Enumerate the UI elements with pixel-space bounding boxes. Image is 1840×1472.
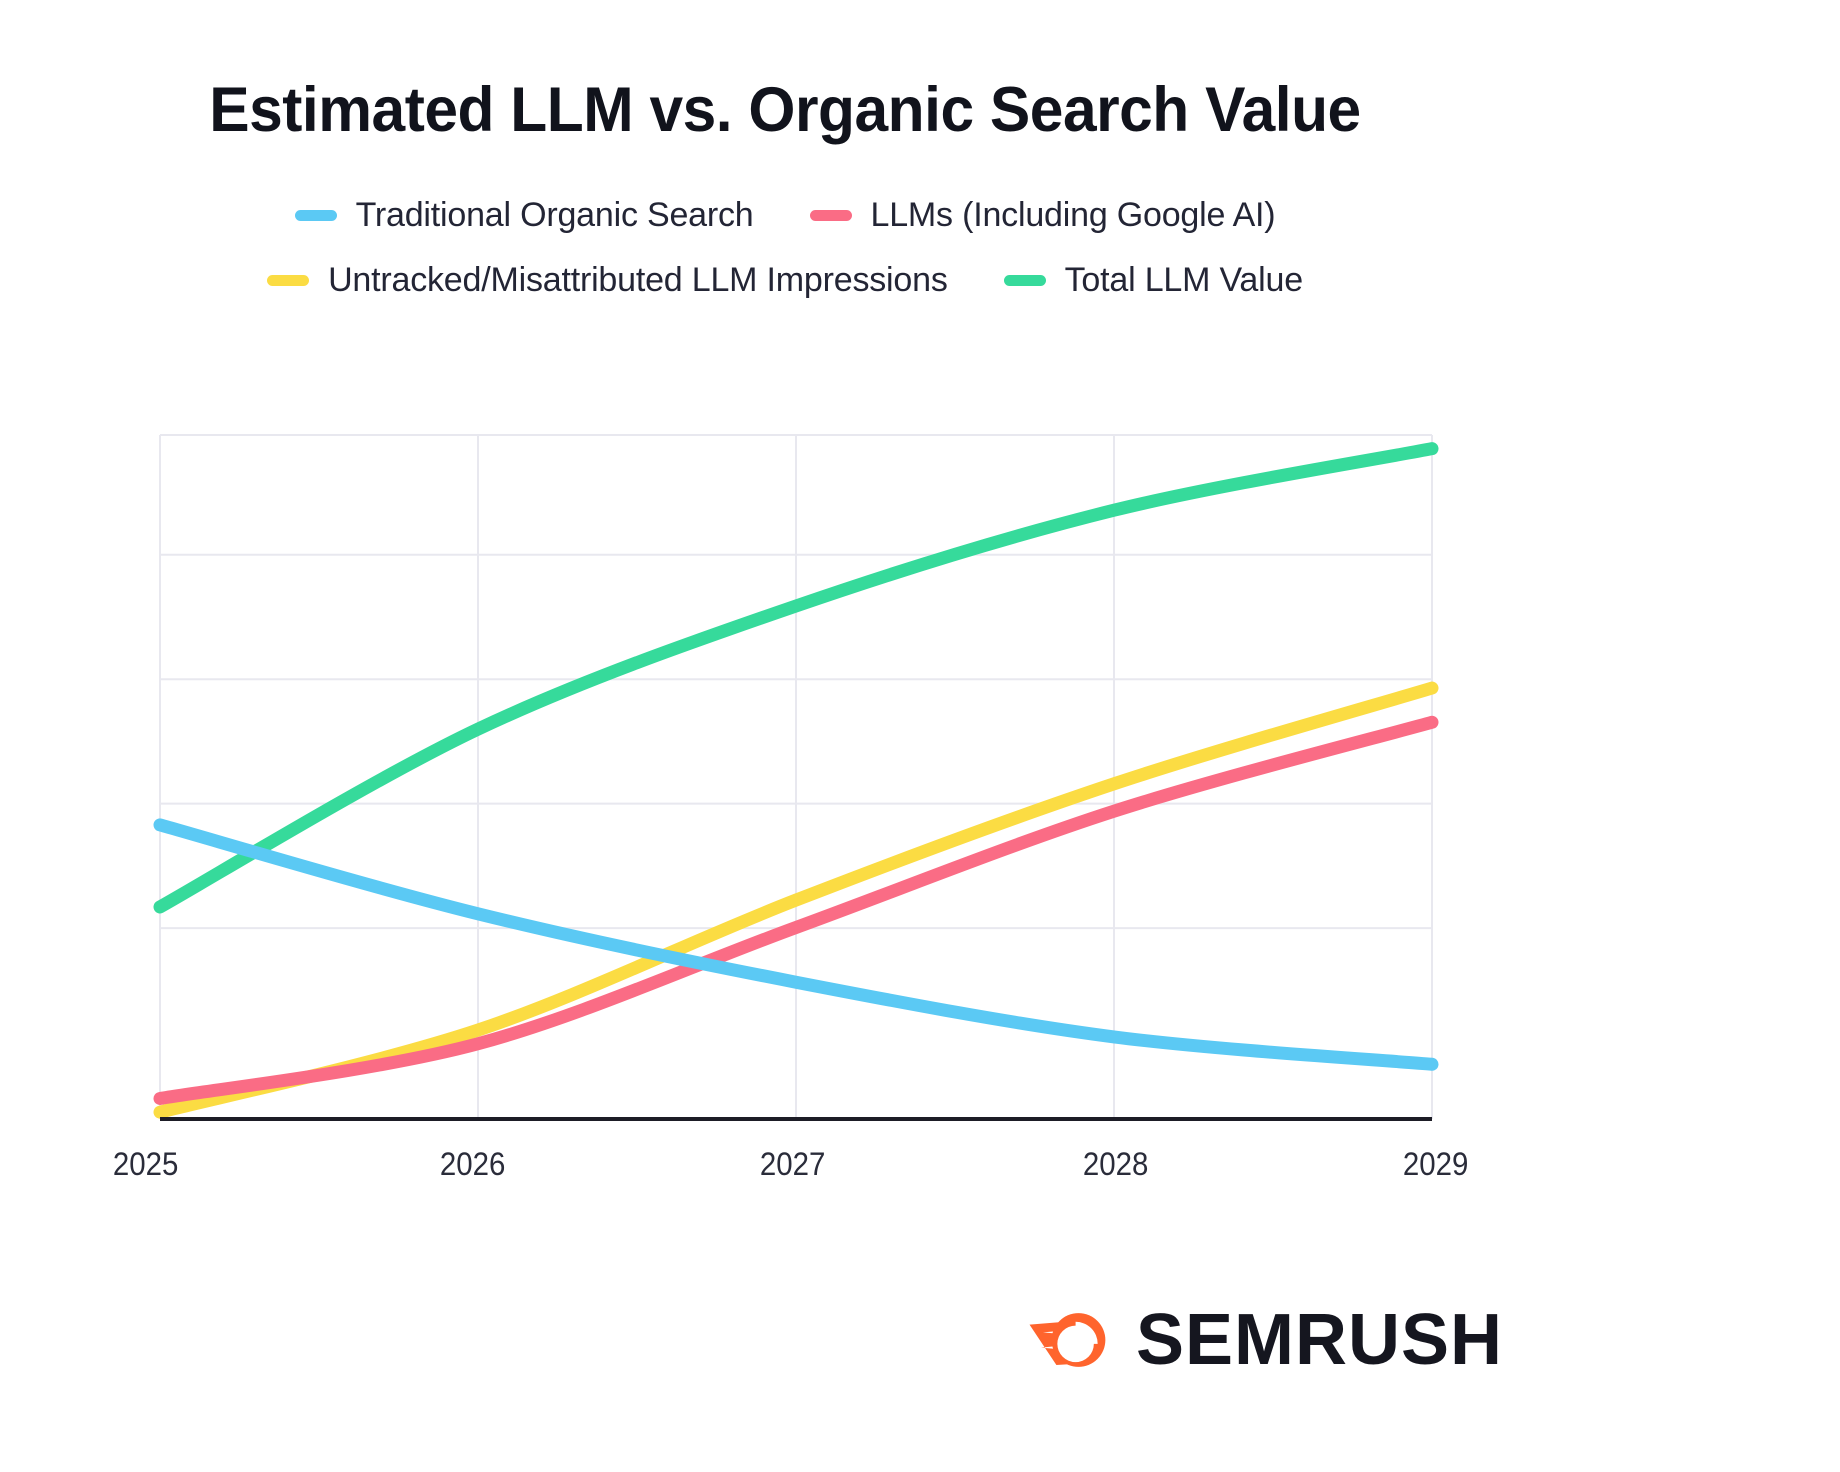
legend-label: LLMs (Including Google AI) — [871, 196, 1276, 235]
brand-wordmark: SEMRUSH — [1136, 1304, 1503, 1376]
legend-swatch-icon — [810, 210, 852, 221]
chart-plot-area — [0, 420, 1570, 1020]
legend-label: Total LLM Value — [1065, 261, 1303, 300]
legend-swatch-icon — [267, 275, 309, 286]
chart-x-axis-labels: 2025 2026 2027 2028 2029 — [0, 1146, 1570, 1196]
chart-legend: Traditional Organic Search LLMs (Includi… — [0, 196, 1570, 300]
legend-row-2: Untracked/Misattributed LLM Impressions … — [267, 261, 1303, 300]
chart-page: Estimated LLM vs. Organic Search Value T… — [0, 0, 1840, 1472]
legend-swatch-icon — [1004, 275, 1046, 286]
semrush-comet-icon — [1018, 1292, 1114, 1388]
legend-label: Untracked/Misattributed LLM Impressions — [328, 261, 948, 300]
x-tick-label-3: 2028 — [1083, 1146, 1148, 1183]
legend-item-traditional-organic-search[interactable]: Traditional Organic Search — [295, 196, 754, 235]
x-tick-label-2: 2027 — [760, 1146, 825, 1183]
legend-item-total-llm-value[interactable]: Total LLM Value — [1004, 261, 1303, 300]
legend-item-llms-including-google-ai[interactable]: LLMs (Including Google AI) — [810, 196, 1276, 235]
page-title: Estimated LLM vs. Organic Search Value — [31, 74, 1538, 146]
legend-item-untracked-misattributed-llm-impressions[interactable]: Untracked/Misattributed LLM Impressions — [267, 261, 948, 300]
x-tick-label-4: 2029 — [1403, 1146, 1468, 1183]
line-chart-svg — [0, 420, 1570, 1140]
legend-swatch-icon — [295, 210, 337, 221]
brand-logo: SEMRUSH — [1018, 1292, 1503, 1388]
x-tick-label-0: 2025 — [113, 1146, 178, 1183]
legend-row-1: Traditional Organic Search LLMs (Includi… — [295, 196, 1276, 235]
legend-label: Traditional Organic Search — [356, 196, 754, 235]
x-tick-label-1: 2026 — [440, 1146, 505, 1183]
